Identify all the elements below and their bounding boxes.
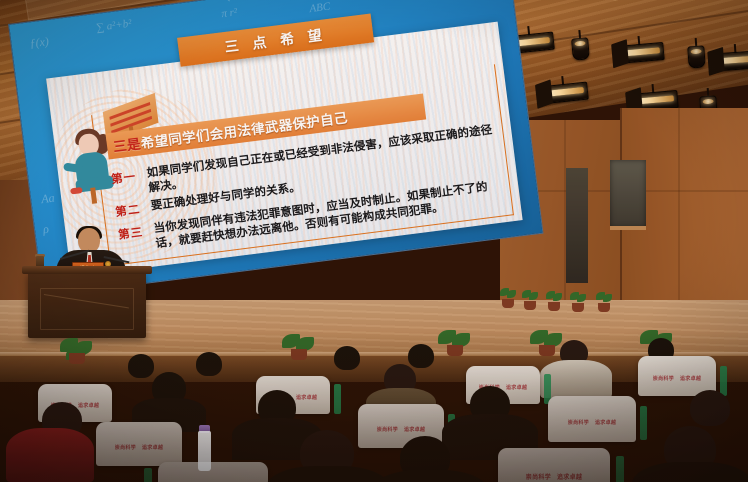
stage-doorway [566,168,588,283]
screen-doodle: ƒ(x) [29,34,50,51]
stage-right-wall [620,108,748,323]
water-bottle [198,431,211,471]
screen-doodle: Aa [40,191,55,208]
podium-top [22,266,152,274]
stage-par-light [571,37,590,60]
auditorium-photo: ƒ(x) ∑ a²+b² π r² ABC ∫ dx Aa ρ √n [0,0,748,482]
podium [28,272,146,338]
potted-plant [570,292,586,312]
potted-plant [546,291,562,311]
stage-spotlight [711,50,748,71]
potted-plant [500,288,516,308]
potted-plant [596,292,612,312]
stage-window [610,160,646,228]
stage-par-light [687,45,705,68]
slide-item-index: 第一 [110,167,149,200]
window-sill [610,226,646,230]
podium-panel [40,288,134,330]
subtitle-prefix: 三是 [112,132,142,155]
audience-area: 崇尚科学 追求卓越 崇尚科学 追求卓越 崇尚科学 追求卓越 崇尚科学 追求卓越 … [0,330,748,482]
potted-plant [522,290,538,310]
